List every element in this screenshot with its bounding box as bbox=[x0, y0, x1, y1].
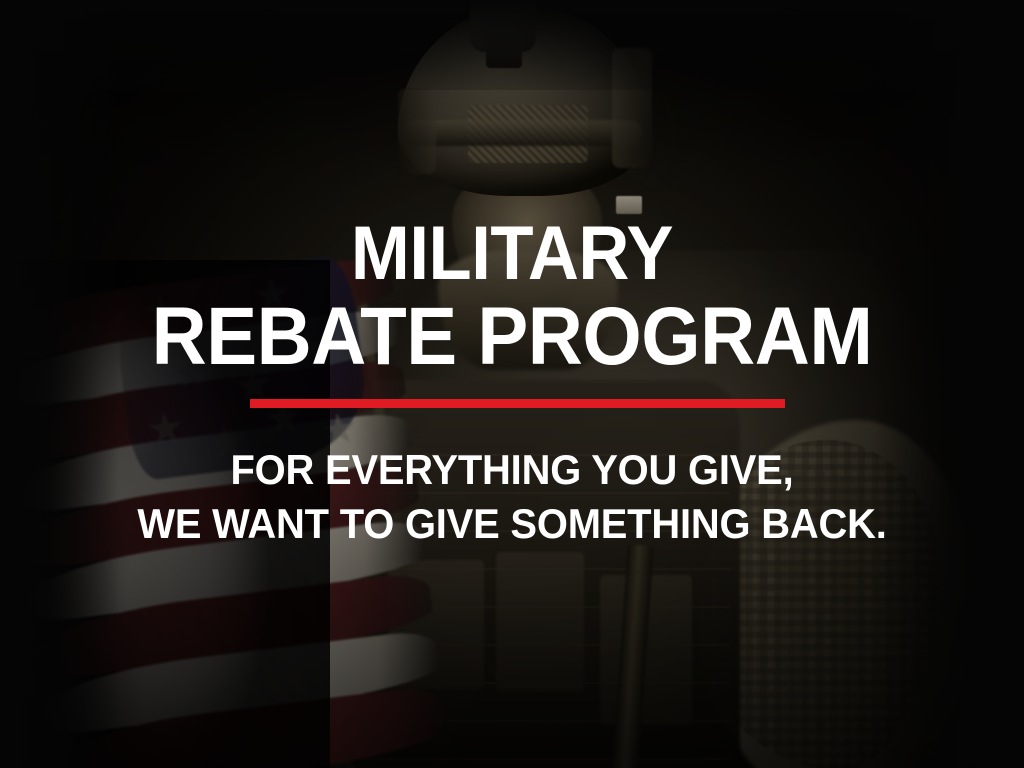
neck-gaiter bbox=[438, 250, 618, 370]
helmet-left-rail-mount bbox=[398, 88, 436, 174]
background-photo bbox=[0, 0, 1024, 768]
helmet-accessory-rail bbox=[404, 120, 642, 146]
night-vision-shroud bbox=[486, 32, 522, 68]
military-rebate-poster: MILITARY REBATE PROGRAM FOR EVERYTHING Y… bbox=[0, 0, 1024, 768]
american-flag bbox=[0, 255, 450, 768]
helmet-id-patch bbox=[616, 196, 642, 214]
helmet-cable bbox=[628, 90, 676, 192]
vest-pouch bbox=[496, 552, 584, 692]
